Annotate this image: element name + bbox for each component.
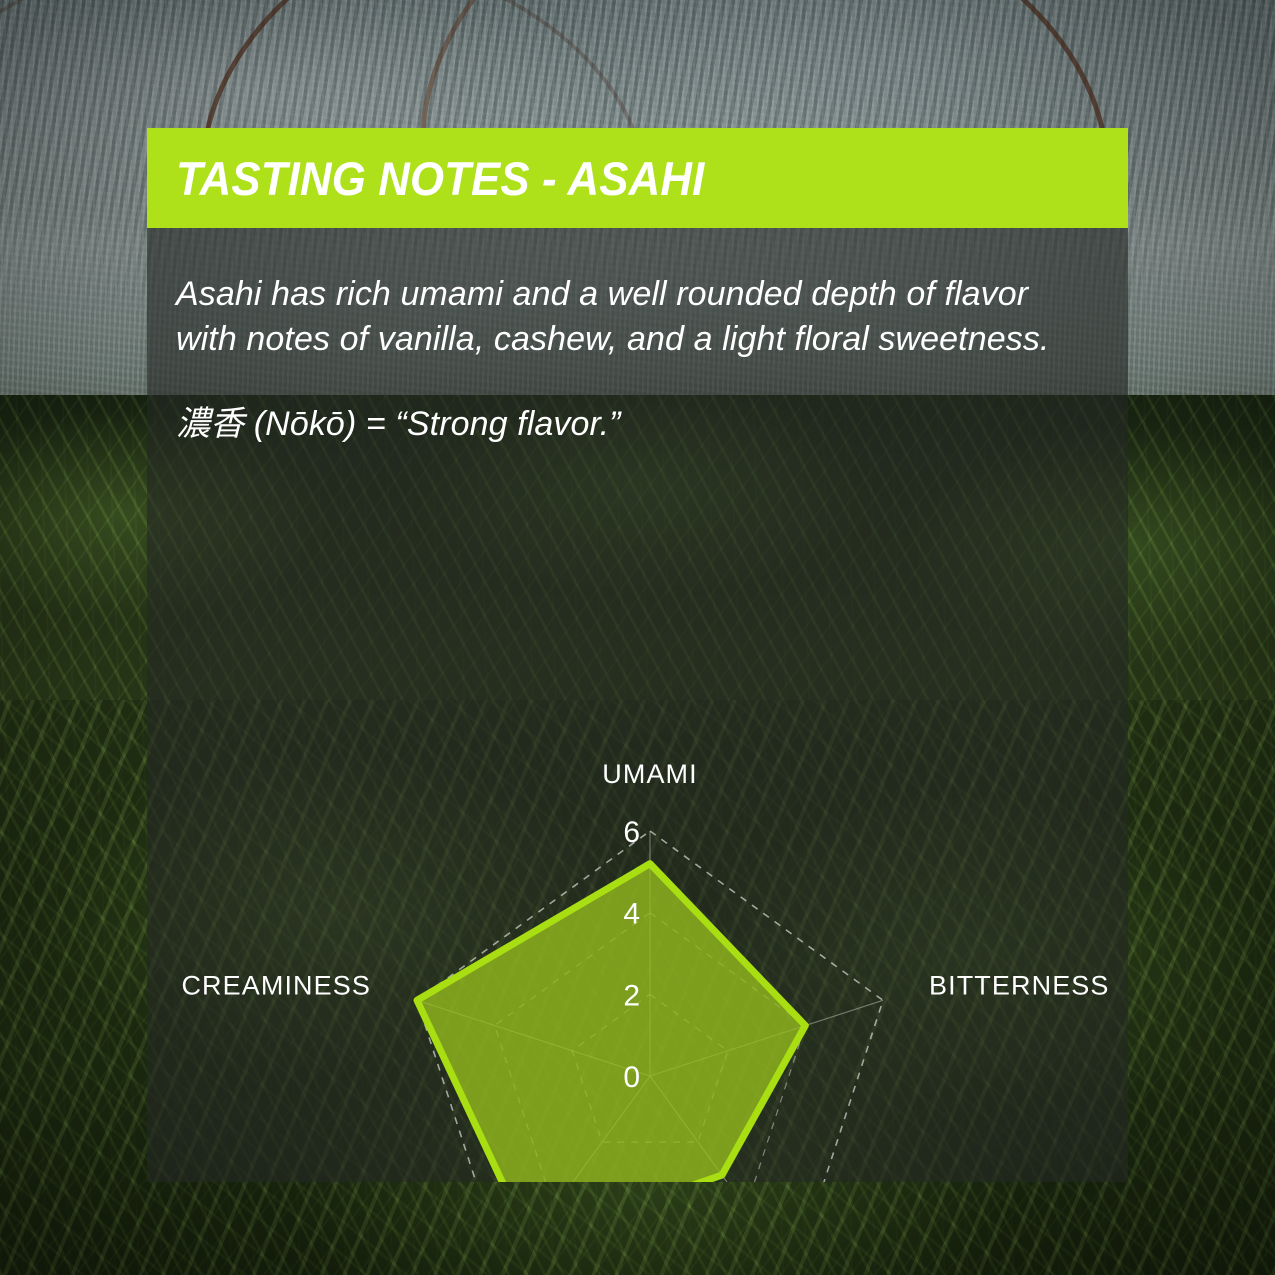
radar-tick-label: 0 [623, 1061, 640, 1094]
description-paragraph-1: Asahi has rich umami and a well rounded … [176, 272, 1076, 362]
card-header-bar: TASTING NOTES - ASAHI [147, 128, 1128, 228]
radar-tick-label: 4 [623, 898, 640, 931]
radar-tick-label: 6 [623, 816, 640, 849]
flavor-radar-chart: 0246 UMAMIBITTERNESSSWEETASTRINGENCYCREA… [0, 496, 1275, 1182]
radar-data-polygon [417, 864, 805, 1182]
radar-axis-label-creaminess: CREAMINESS [181, 970, 371, 1000]
radar-series-asahi [417, 864, 805, 1182]
page-title: TASTING NOTES - ASAHI [176, 151, 704, 206]
radar-chart-svg: 0246 UMAMIBITTERNESSSWEETASTRINGENCYCREA… [0, 496, 1275, 1182]
radar-axis-label-umami: UMAMI [602, 759, 698, 789]
radar-axis-label-bitterness: BITTERNESS [929, 970, 1110, 1000]
poster-canvas: TASTING NOTES - ASAHI Asahi has rich uma… [0, 0, 1275, 1275]
radar-tick-label: 2 [623, 979, 640, 1012]
card-body-panel: Asahi has rich umami and a well rounded … [147, 228, 1128, 1182]
tasting-description: Asahi has rich umami and a well rounded … [176, 272, 1076, 448]
tasting-notes-card: TASTING NOTES - ASAHI Asahi has rich uma… [147, 128, 1128, 1182]
description-paragraph-2: 濃香 (Nōkō) = “Strong flavor.” [176, 402, 1076, 447]
